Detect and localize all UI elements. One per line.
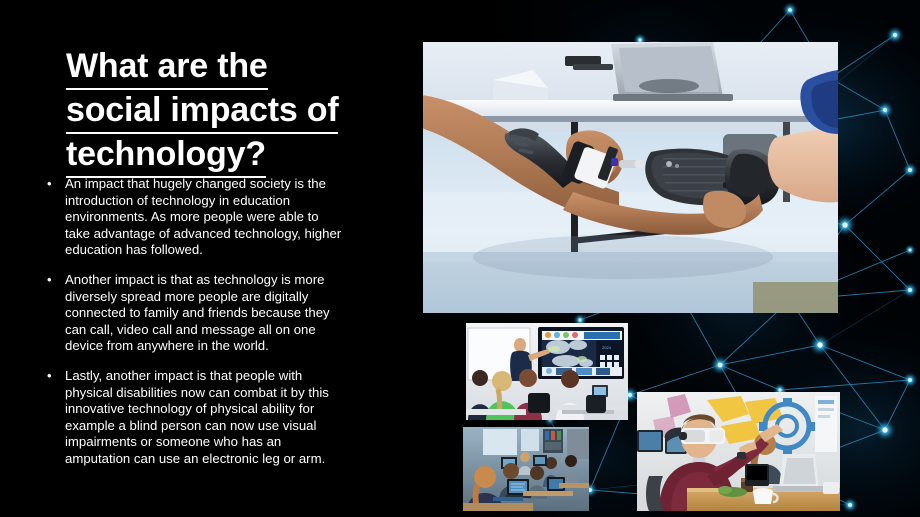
- text-column: What are the social impacts of technolog…: [0, 0, 400, 517]
- page-title-line-2: social impacts of: [66, 90, 338, 134]
- bullet-text: An impact that hugely changed society is…: [65, 176, 344, 259]
- classroom-interactive-whiteboard-photo: 2024: [466, 323, 628, 420]
- bullet-text: Another impact is that as technology is …: [65, 272, 344, 355]
- page-title-line-1: What are the: [66, 46, 268, 90]
- list-item: • An impact that hugely changed society …: [44, 176, 344, 259]
- bullet-text: Lastly, another impact is that people wi…: [65, 368, 344, 468]
- list-item: • Another impact is that as technology i…: [44, 272, 344, 355]
- bullet-marker-icon: •: [44, 368, 65, 468]
- presentation-slide: What are the social impacts of technolog…: [0, 0, 920, 517]
- vr-headset-student-photo: [637, 392, 840, 511]
- computer-lab-students-photo: [463, 427, 589, 511]
- list-item: • Lastly, another impact is that people …: [44, 368, 344, 468]
- page-title-line-3: technology?: [66, 134, 266, 178]
- prosthetic-arm-fitting-photo: [423, 42, 838, 313]
- bullet-list: • An impact that hugely changed society …: [44, 176, 344, 481]
- svg-text:2024: 2024: [602, 345, 612, 350]
- bullet-marker-icon: •: [44, 272, 65, 355]
- bullet-marker-icon: •: [44, 176, 65, 259]
- page-title: What are the social impacts of technolog…: [66, 46, 356, 178]
